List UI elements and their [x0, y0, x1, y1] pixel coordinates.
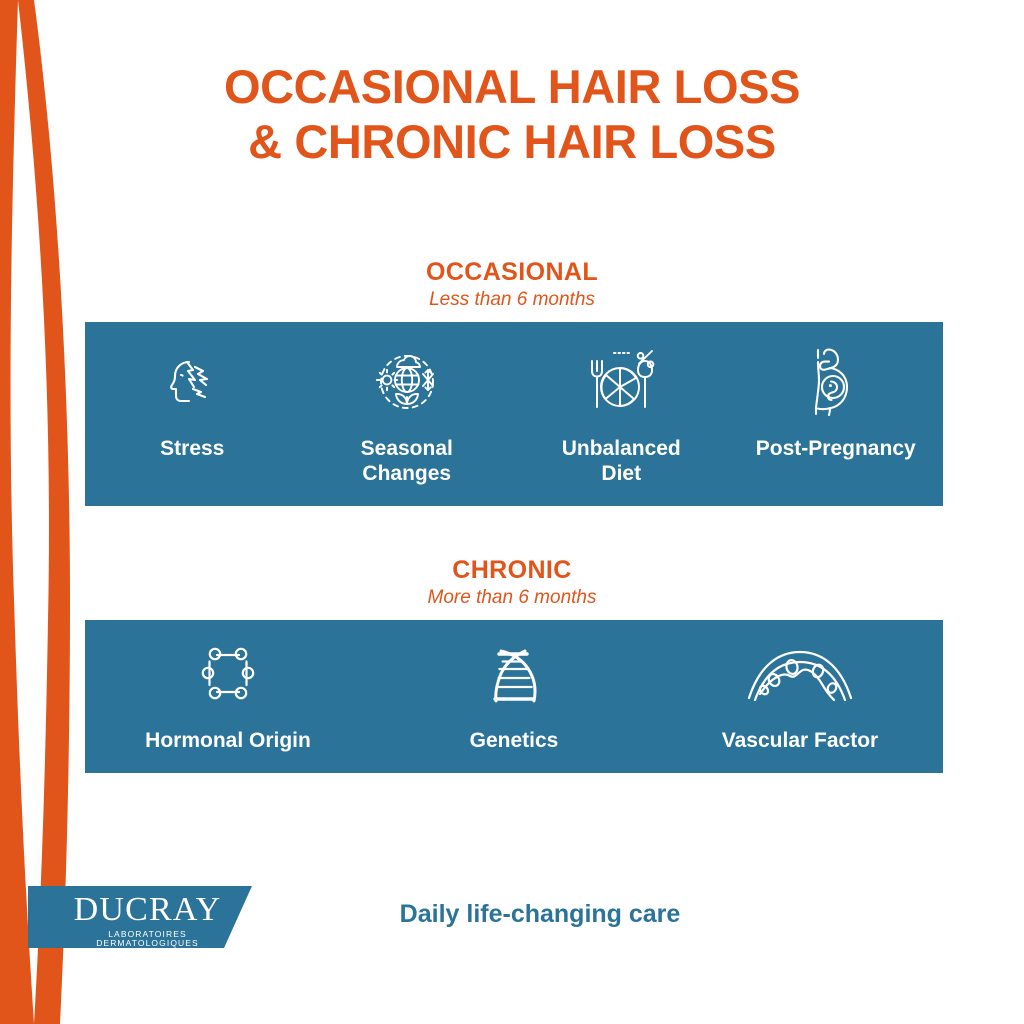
molecule-hexagon-icon — [193, 642, 263, 714]
stressed-head-icon — [159, 344, 225, 420]
cause-label-post-pregnancy: Post-Pregnancy — [756, 436, 916, 461]
section-subtitle-occasional: Less than 6 months — [0, 288, 1024, 313]
cause-label-seasonal-changes: Seasonal Changes — [361, 436, 453, 486]
cause-item-vascular-factor[interactable]: Vascular Factor — [675, 642, 925, 753]
cause-item-genetics[interactable]: Genetics — [389, 642, 639, 753]
section-title-chronic: CHRONIC — [0, 556, 1024, 585]
cause-label-vascular-factor: Vascular Factor — [722, 728, 878, 753]
brand-subtitle: LABORATOIRES DERMATOLOGIQUES — [60, 930, 235, 949]
plate-fork-spoon-percent-icon — [584, 344, 658, 420]
page-title-line-2: & CHRONIC HAIR LOSS — [0, 115, 1024, 170]
section-title-occasional: OCCASIONAL — [0, 258, 1024, 287]
seasons-globe-icon — [371, 344, 443, 420]
panel-chronic-causes: Hormonal Origin Genetics — [85, 620, 943, 773]
page-title-line-1: OCCASIONAL HAIR LOSS — [0, 60, 1024, 115]
brand-logo: DUCRAY LABORATOIRES DERMATOLOGIQUES — [60, 892, 235, 948]
section-subtitle-chronic: More than 6 months — [0, 586, 1024, 611]
cause-label-unbalanced-diet: Unbalanced Diet — [562, 436, 681, 486]
cause-label-genetics: Genetics — [470, 728, 559, 753]
cause-label-hormonal-origin: Hormonal Origin — [145, 728, 311, 753]
page-title: OCCASIONAL HAIR LOSS & CHRONIC HAIR LOSS — [0, 60, 1024, 169]
brand-name: DUCRAY — [60, 892, 235, 928]
cause-item-stress[interactable]: Stress — [92, 344, 292, 461]
dna-helix-icon — [484, 642, 544, 714]
infographic-page: OCCASIONAL HAIR LOSS & CHRONIC HAIR LOSS… — [0, 0, 1024, 1024]
cause-item-hormonal-origin[interactable]: Hormonal Origin — [103, 642, 353, 753]
cause-label-stress: Stress — [160, 436, 224, 461]
section-heading-chronic: CHRONIC More than 6 months — [0, 556, 1024, 610]
panel-occasional-causes: Stress Seasonal Cha — [85, 322, 943, 506]
cause-item-post-pregnancy[interactable]: Post-Pregnancy — [736, 344, 936, 461]
pregnant-woman-icon — [805, 344, 867, 420]
brand-tagline: Daily life-changing care — [330, 900, 750, 929]
cause-item-unbalanced-diet[interactable]: Unbalanced Diet — [521, 344, 721, 486]
cause-item-seasonal-changes[interactable]: Seasonal Changes — [307, 344, 507, 486]
blood-vessel-icon — [746, 642, 854, 714]
section-heading-occasional: OCCASIONAL Less than 6 months — [0, 258, 1024, 312]
